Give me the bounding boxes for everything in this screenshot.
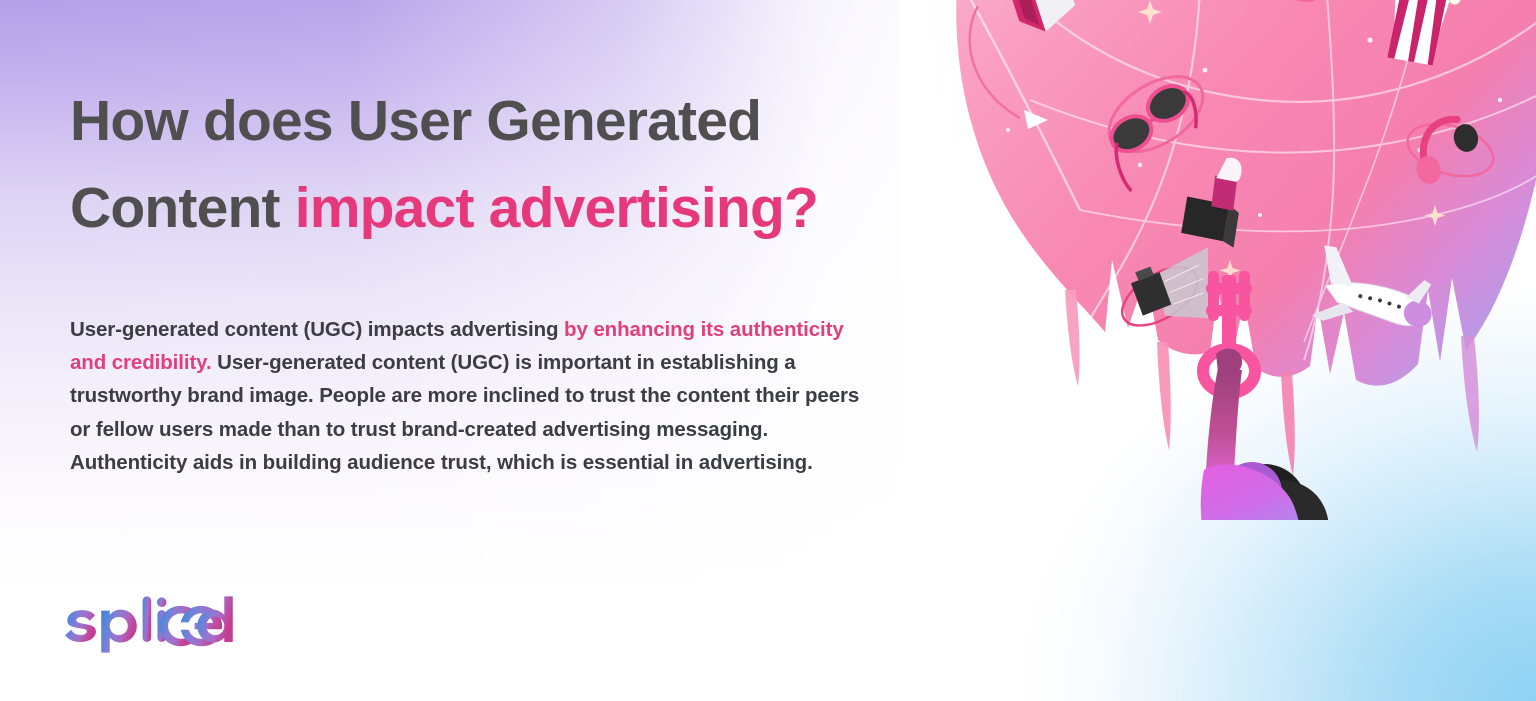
page-title: How does User Generated Content impact a… (70, 78, 1010, 251)
spliced-wordmark-infinity (62, 596, 237, 654)
body-paragraph: User-generated content (UGC) impacts adv… (70, 313, 860, 479)
headline-line-2-plain: Content (70, 176, 295, 240)
headline-line-1: How does User Generated (70, 89, 761, 153)
body-segment-1: User-generated content (UGC) impacts adv… (70, 318, 564, 341)
brand-logo[interactable] (62, 596, 237, 654)
hero-banner: How does User Generated Content impact a… (0, 0, 1536, 701)
headline-line-2-accent: impact advertising? (295, 176, 818, 240)
